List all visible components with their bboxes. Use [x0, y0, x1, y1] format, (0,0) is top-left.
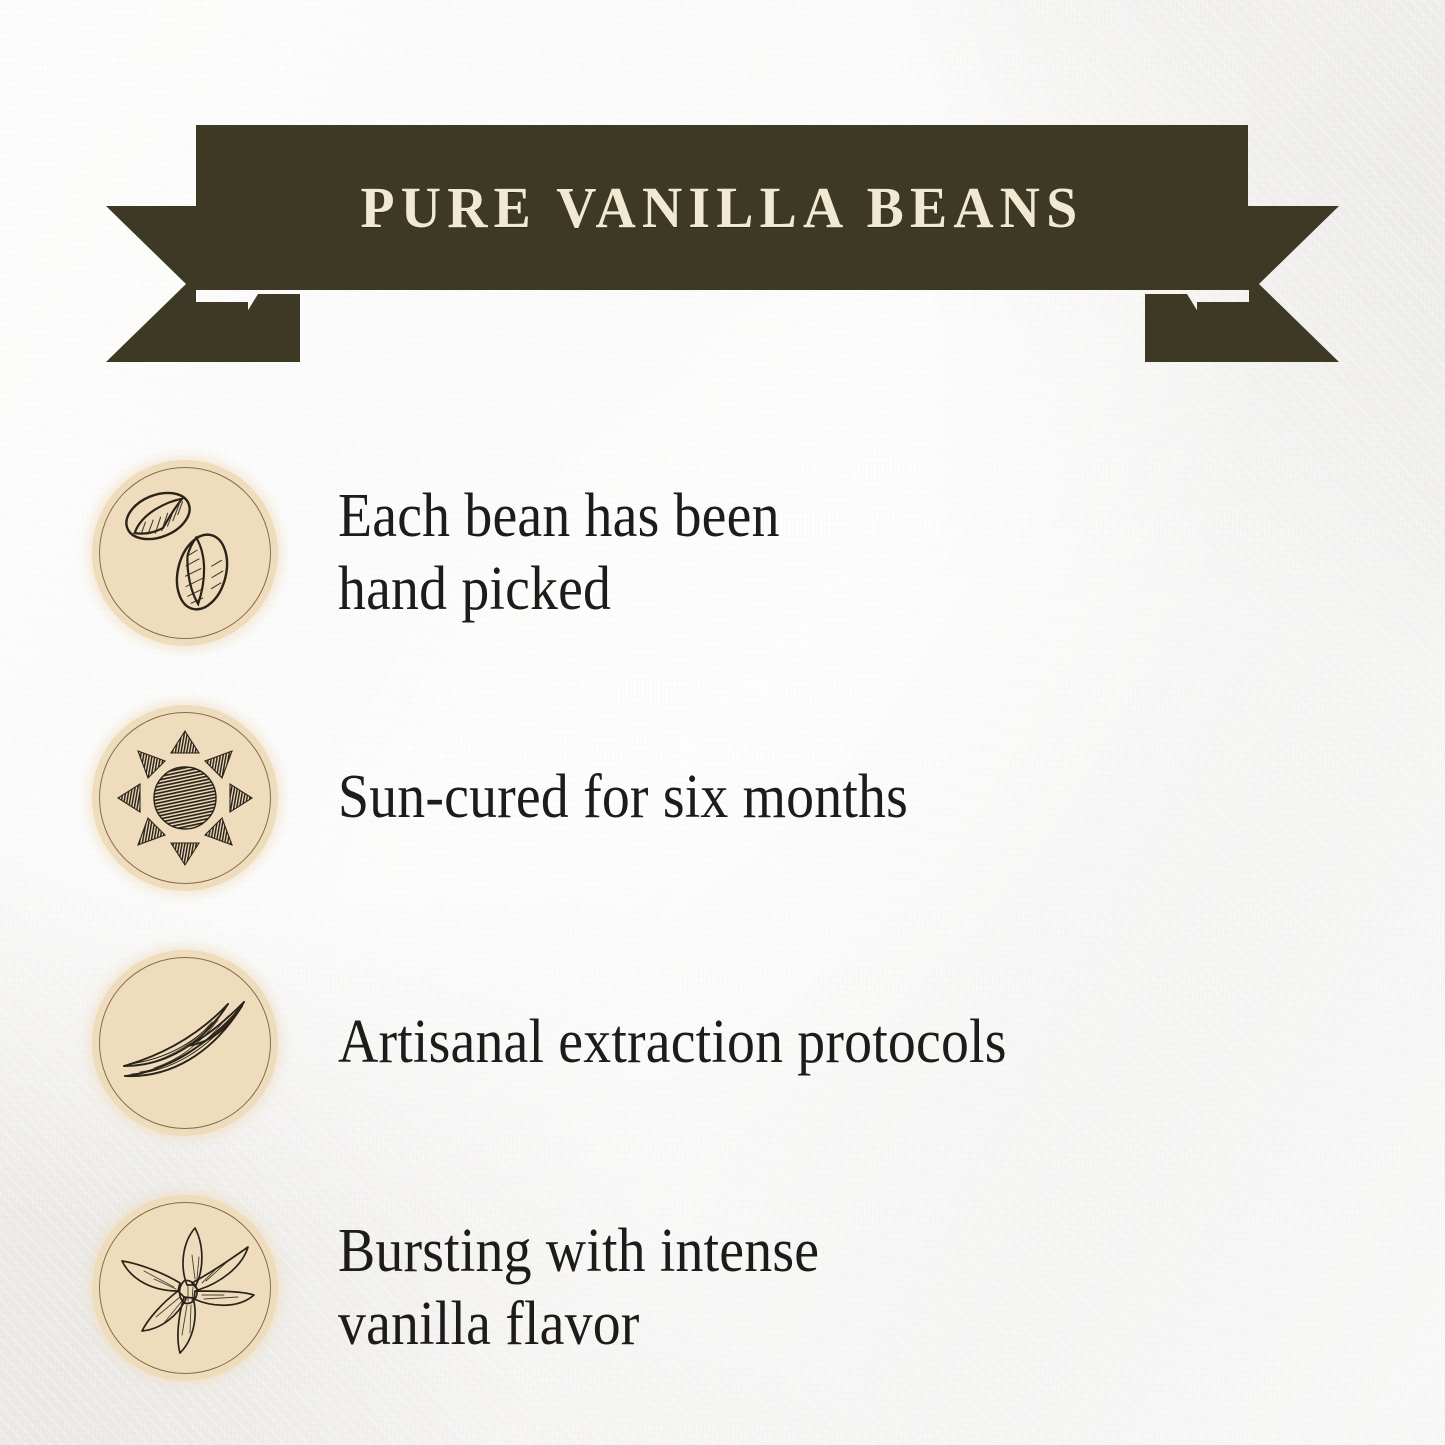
feature-label: Each bean has been hand picked	[338, 480, 780, 625]
feature-label: Bursting with intense vanilla flavor	[338, 1215, 819, 1360]
feature-row: Sun-cured for six months	[0, 675, 1445, 920]
feature-label: Artisanal extraction protocols	[338, 1006, 1007, 1079]
vanilla-flower-icon	[92, 1195, 278, 1381]
feature-label: Sun-cured for six months	[338, 761, 908, 834]
sun-icon	[92, 705, 278, 891]
banner-ribbon: PURE VANILLA BEANS	[0, 0, 1445, 400]
feature-list: Each bean has been hand picked	[0, 430, 1445, 1410]
feature-badge	[92, 705, 278, 891]
feature-badge	[92, 1195, 278, 1381]
feature-badge	[92, 460, 278, 646]
vanilla-pods-icon	[92, 950, 278, 1136]
feature-row: Artisanal extraction protocols	[0, 920, 1445, 1165]
infographic-panel: PURE VANILLA BEANS	[0, 0, 1445, 1445]
feature-row: Bursting with intense vanilla flavor	[0, 1165, 1445, 1410]
page-title: PURE VANILLA BEANS	[217, 125, 1227, 290]
coffee-beans-icon	[92, 460, 278, 646]
feature-row: Each bean has been hand picked	[0, 430, 1445, 675]
feature-badge	[92, 950, 278, 1136]
